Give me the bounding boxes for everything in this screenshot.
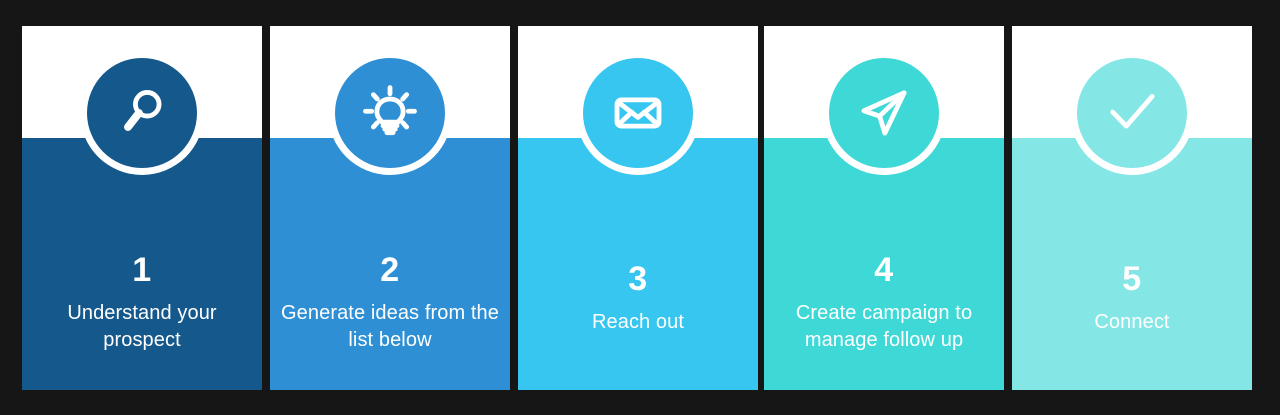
step-label: Reach out [526,309,750,336]
step-card-1[interactable]: 1Understand your prospect [22,26,262,390]
step-text-block: 5Connect [1020,261,1244,336]
lightbulb-icon [335,58,445,168]
step-card-2[interactable]: 2Generate ideas from the list below [270,26,510,390]
step-text-block: 1Understand your prospect [30,252,254,354]
envelope-icon [583,58,693,168]
step-number: 2 [278,252,502,288]
step-card-5[interactable]: 5Connect [1012,26,1252,390]
step-card-4[interactable]: 4Create campaign to manage follow up [764,26,1004,390]
step-label: Connect [1020,309,1244,336]
step-icon-badge [80,51,204,175]
step-text-block: 3Reach out [526,261,750,336]
process-steps-infographic: 1Understand your prospect2Generate ideas… [0,0,1280,415]
step-number: 4 [772,252,996,288]
step-icon-badge [328,51,452,175]
step-number: 1 [30,252,254,288]
step-card-3[interactable]: 3Reach out [518,26,758,390]
magnifier-icon [87,58,197,168]
step-label: Create campaign to manage follow up [772,300,996,354]
step-icon-badge [1070,51,1194,175]
paper-plane-icon [829,58,939,168]
step-number: 5 [1020,261,1244,297]
step-icon-badge [822,51,946,175]
step-text-block: 4Create campaign to manage follow up [772,252,996,354]
check-icon [1077,58,1187,168]
step-text-block: 2Generate ideas from the list below [278,252,502,354]
step-icon-badge [576,51,700,175]
step-label: Understand your prospect [30,300,254,354]
step-label: Generate ideas from the list below [278,300,502,354]
step-number: 3 [526,261,750,297]
